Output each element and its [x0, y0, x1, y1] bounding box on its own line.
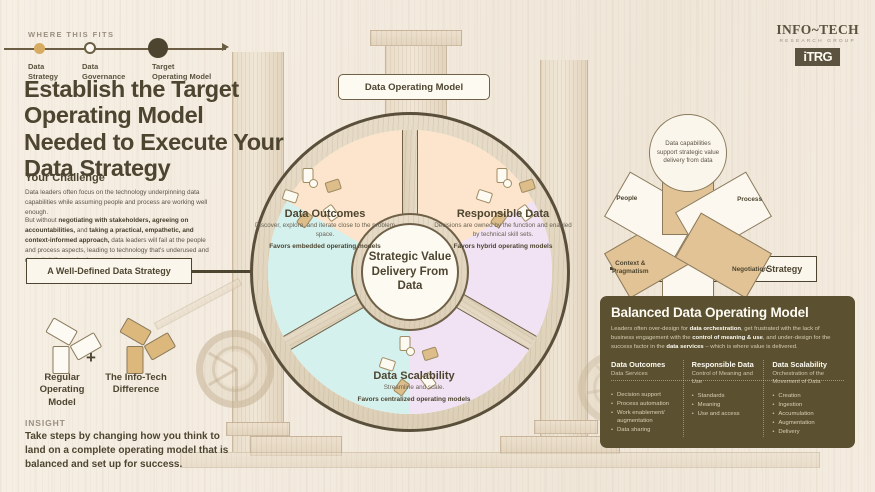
responsible-data-favors: Favors hybrid operating models — [432, 243, 574, 252]
panel-lede-bold-2: control of meaning & use — [692, 335, 763, 341]
list-item: Delivery — [772, 428, 838, 437]
petal-process-label: Process — [737, 195, 762, 203]
panel-column-data-outcomes: Data Outcomes Data Services Decision sup… — [611, 360, 683, 437]
list-item: Data sharing — [611, 426, 677, 435]
regular-operating-model-icon — [34, 320, 88, 372]
pinwheel-icon-responsible-data — [490, 166, 524, 200]
panel-column-data-scalability: Data Scalability Orchestration of the Mo… — [763, 360, 844, 437]
info-tech-difference-icon — [108, 320, 162, 372]
panel-col-2-heading: Data Scalability — [772, 360, 838, 369]
responsible-data-desc: Decisions are owned by the function and … — [432, 222, 574, 240]
where-this-fits-label: WHERE THIS FITS — [28, 30, 114, 39]
panel-lede-bold-3: data services — [666, 344, 703, 350]
challenge-p2-a: But without — [25, 217, 58, 224]
timeline-node-data-strategy[interactable] — [34, 43, 45, 54]
data-scalability-favors: Favors centralized operating models — [339, 396, 489, 405]
callout-well-defined-data-strategy[interactable]: A Well-Defined Data Strategy — [26, 258, 192, 284]
insight-body: Take steps by changing how you think to … — [25, 430, 237, 473]
data-outcomes-desc: Discover, explore, and iterate close to … — [254, 222, 396, 240]
list-item: Augmentation — [772, 419, 838, 428]
panel-columns: Data Outcomes Data Services Decision sup… — [611, 360, 844, 437]
data-operating-model-wheel: Strategic Value Delivery From Data — [250, 112, 570, 432]
panel-col-2-list: Creation Ingestion Accumulation Augmenta… — [772, 392, 838, 436]
data-operating-model-badge[interactable]: Data Operating Model — [338, 74, 490, 100]
logo-tagline: RESEARCH GROUP — [776, 39, 859, 44]
challenge-heading: Your Challenge — [25, 172, 105, 184]
list-item: Work enablement/ augmentation — [611, 409, 677, 427]
petal-negotiation-label: Negotiation — [732, 266, 767, 274]
balanced-data-operating-model-panel: Balanced Data Operating Model Leaders of… — [600, 296, 855, 448]
challenge-p2-c: and — [75, 227, 89, 234]
panel-lede-e: – which is where value is delivered. — [704, 344, 798, 350]
info-tech-logo: INFO~TECH RESEARCH GROUP iTRG — [776, 22, 859, 66]
pinwheel-icon-data-outcomes — [296, 166, 330, 200]
petal-core-label: Data capabilities support strategic valu… — [649, 114, 727, 192]
panel-col-0-heading: Data Outcomes — [611, 360, 677, 369]
bg-capital-center — [370, 30, 462, 46]
regular-operating-model-caption: Regular Operating Model — [26, 372, 98, 409]
list-item: Ingestion — [772, 401, 838, 410]
timeline-node-data-governance[interactable] — [84, 42, 96, 54]
info-tech-difference-caption: The Info-Tech Difference — [100, 372, 172, 397]
bg-rail — [180, 452, 820, 468]
panel-divider — [611, 380, 844, 381]
tl-1-l1: Data — [82, 62, 125, 72]
panel-lede: Leaders often over-design for data orche… — [611, 325, 844, 352]
data-scalability-desc: Streamline and scale. — [339, 384, 489, 393]
plus-icon: + — [86, 348, 96, 368]
logo-name: INFO~TECH — [776, 22, 859, 38]
panel-col-2-sub: Orchestration of the Movement of Data — [772, 370, 838, 387]
list-item: Standards — [692, 392, 758, 401]
label-responsible-data: Responsible Data Decisions are owned by … — [432, 208, 574, 252]
panel-lede-a: Leaders often over-design for — [611, 326, 690, 332]
list-item: Meaning — [692, 401, 758, 410]
panel-title: Balanced Data Operating Model — [611, 305, 844, 320]
petal-context-label: Context & Pragmatism — [605, 260, 655, 277]
panel-col-0-list: Decision support Process automation Work… — [611, 391, 677, 435]
panel-lede-bold-1: data orchestration — [690, 326, 741, 332]
data-outcomes-favors: Favors embedded operating models — [254, 243, 396, 252]
page-title: Establish the Target Operating Model Nee… — [24, 76, 286, 181]
insight-kicker: INSIGHT — [25, 418, 66, 428]
bg-base-left — [250, 436, 342, 456]
label-data-outcomes: Data Outcomes Discover, explore, and ite… — [254, 208, 396, 252]
panel-column-responsible-data: Responsible Data Control of Meaning and … — [683, 360, 764, 437]
logo-mark: iTRG — [795, 48, 840, 66]
panel-col-1-heading: Responsible Data — [692, 360, 758, 369]
tl-2-l1: Target — [152, 62, 211, 72]
pinwheel-icon-data-scalability — [393, 334, 427, 368]
bg-strut — [154, 278, 243, 330]
petal-people-label: People — [616, 195, 637, 203]
data-outcomes-title: Data Outcomes — [254, 208, 396, 220]
capability-petal-diagram: Tech Context & Pragmatism People Agreed … — [583, 58, 793, 248]
panel-col-1-list: Standards Meaning Use and access — [692, 392, 758, 419]
list-item: Creation — [772, 392, 838, 401]
panel-col-0-sub: Data Services — [611, 370, 677, 385]
responsible-data-title: Responsible Data — [432, 208, 574, 220]
panel-col-1-sub: Control of Meaning and Use — [692, 370, 758, 387]
challenge-paragraph-1: Data leaders often focus on the technolo… — [25, 188, 211, 218]
list-item: Accumulation — [772, 410, 838, 419]
timeline-node-target-operating-model[interactable] — [148, 38, 168, 58]
infographic-canvas: WHERE THIS FITS Data Strategy Data Gover… — [0, 0, 875, 492]
list-item: Use and access — [692, 410, 758, 419]
data-scalability-title: Data Scalability — [339, 370, 489, 382]
tl-0-l1: Data — [28, 62, 58, 72]
label-data-scalability: Data Scalability Streamline and scale. F… — [339, 370, 489, 405]
timeline-arrow-icon — [222, 43, 229, 51]
list-item: Decision support — [611, 391, 677, 400]
list-item: Process automation — [611, 400, 677, 409]
